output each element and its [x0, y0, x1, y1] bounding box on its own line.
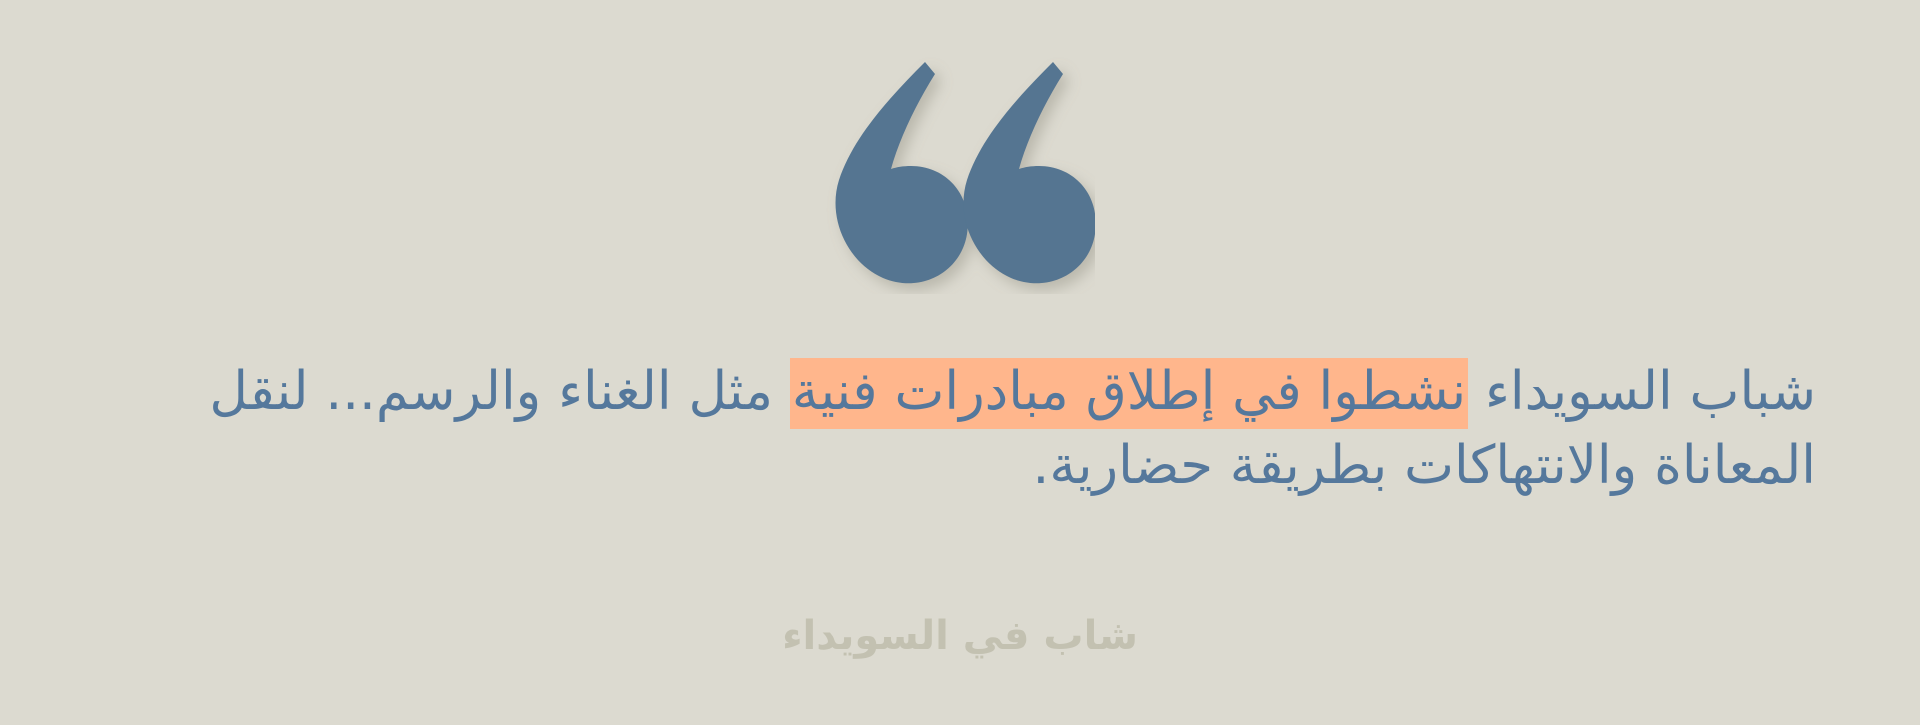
- quote-text-after-highlight: مثل الغناء والرسم... لنقل: [209, 361, 789, 422]
- quote-line-2-text: المعاناة والانتهاكات بطريقة حضارية.: [1032, 435, 1816, 496]
- quote-text-block: شباب السويداء نشطوا في إطلاق مبادرات فني…: [0, 355, 1920, 503]
- attribution-row: شاب في السويداء: [0, 608, 1920, 664]
- quote-card: شباب السويداء نشطوا في إطلاق مبادرات فني…: [0, 0, 1920, 725]
- quote-line-1: شباب السويداء نشطوا في إطلاق مبادرات فني…: [104, 355, 1816, 503]
- double-opening-quote-icon: [825, 44, 1095, 294]
- quote-highlight: نشطوا في إطلاق مبادرات فنية: [790, 358, 1468, 429]
- quote-text-before-highlight: شباب السويداء: [1468, 361, 1816, 422]
- attribution-label: شاب في السويداء: [782, 608, 1138, 664]
